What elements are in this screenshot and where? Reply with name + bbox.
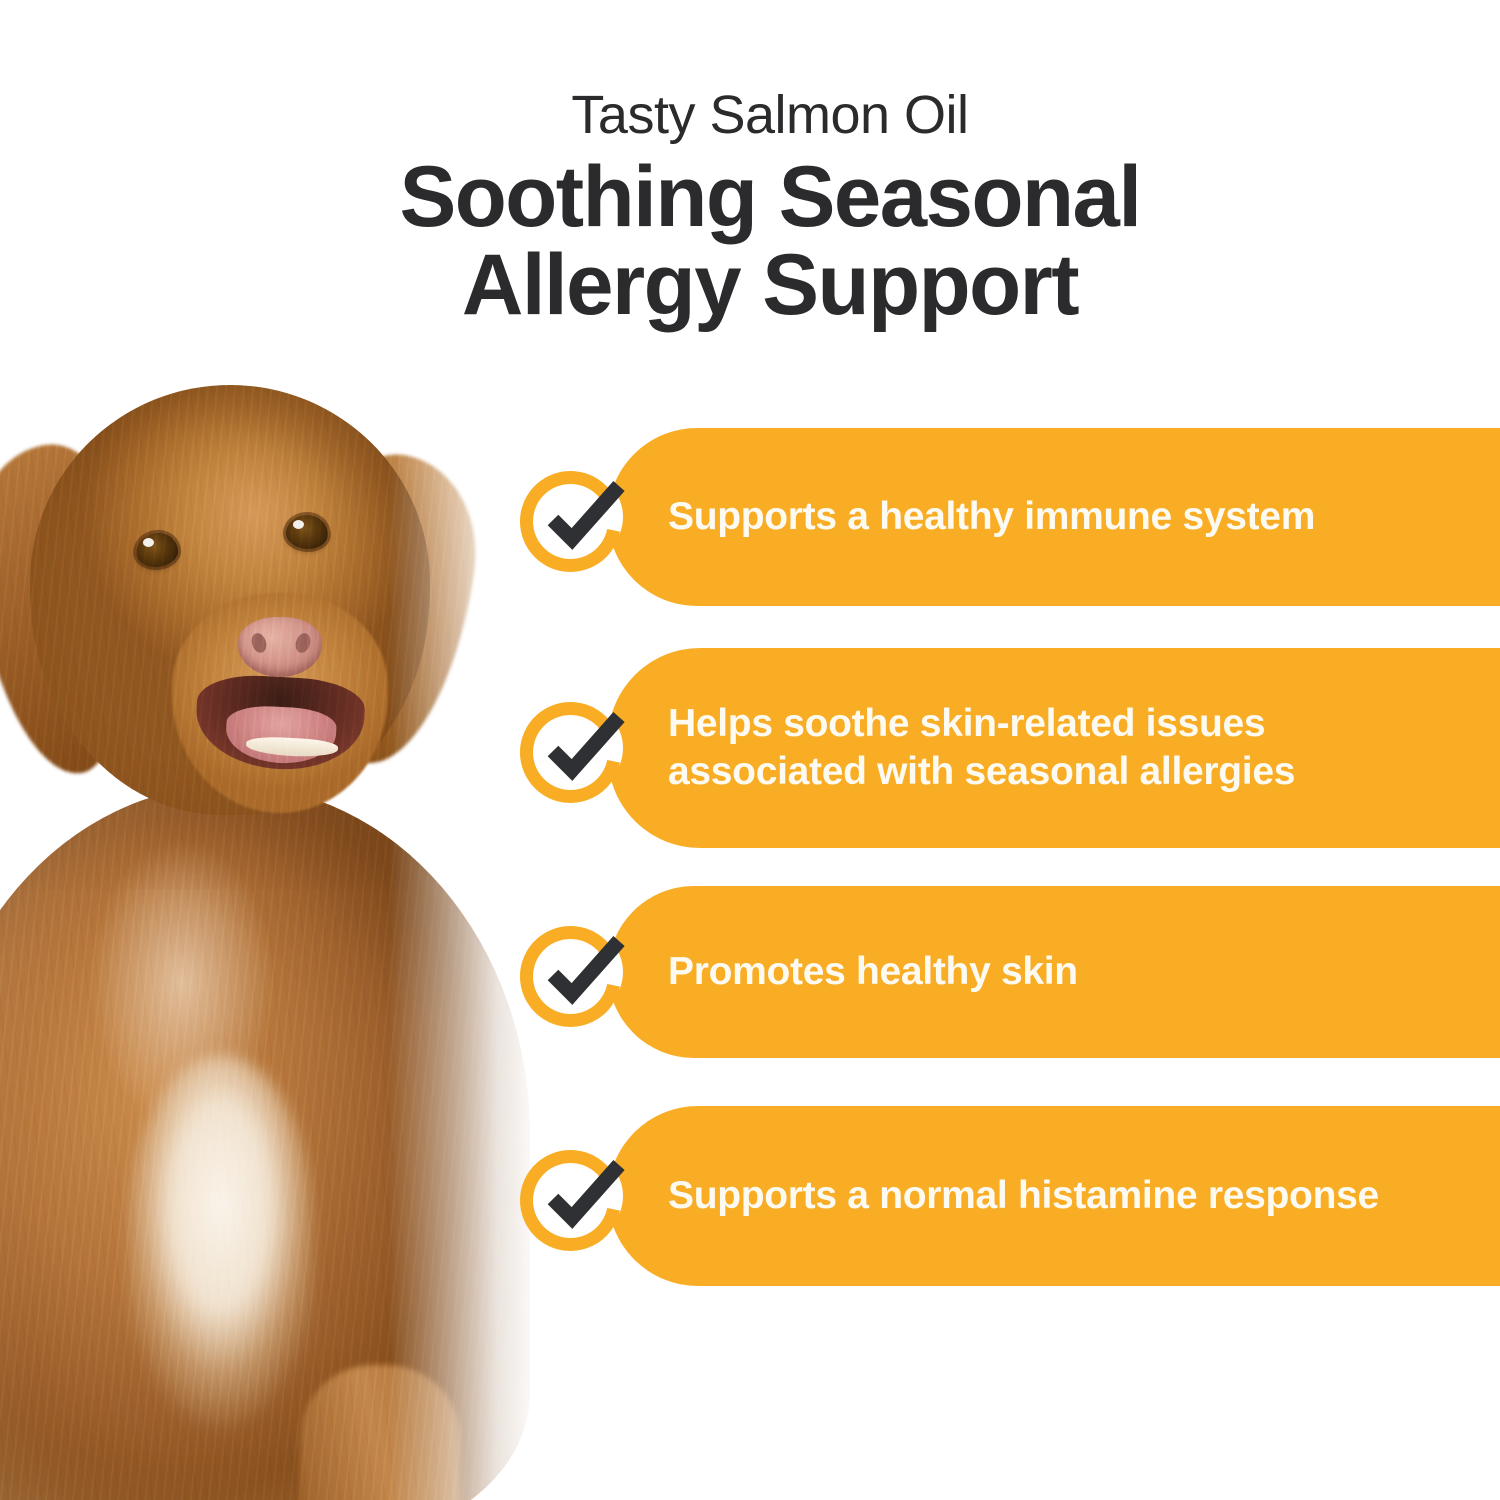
headline-line-2: Allergy Support <box>186 242 1354 330</box>
check-circle-icon <box>527 465 631 569</box>
benefit-item: Supports a healthy immune system <box>608 428 1500 606</box>
benefit-label: Promotes healthy skin <box>668 948 1078 996</box>
benefit-label: Supports a healthy immune system <box>668 493 1315 541</box>
check-circle-icon <box>527 920 631 1024</box>
benefit-label: Helps soothe skin-related issues associa… <box>668 700 1460 795</box>
check-circle-icon <box>527 1144 631 1248</box>
benefit-item: Helps soothe skin-related issues associa… <box>608 648 1500 848</box>
headline-line-1: Soothing Seasonal <box>186 154 1354 242</box>
dog-foreleg-right <box>300 1365 460 1500</box>
check-circle-icon <box>527 696 631 800</box>
hero-dog-photo <box>0 355 540 1500</box>
dog-illustration <box>0 355 540 1500</box>
benefit-item: Supports a normal histamine response <box>608 1106 1500 1286</box>
headline-block: Tasty Salmon Oil Soothing Seasonal Aller… <box>180 88 1360 329</box>
eyebrow-text: Tasty Salmon Oil <box>180 88 1360 142</box>
dog-eye-glint-right <box>293 520 304 529</box>
benefit-label: Supports a normal histamine response <box>668 1172 1379 1220</box>
dog-chest-blaze <box>128 1055 313 1475</box>
dog-eye-glint-left <box>143 538 154 547</box>
benefit-item: Promotes healthy skin <box>608 886 1500 1058</box>
page-title: Soothing Seasonal Allergy Support <box>186 154 1354 329</box>
product-benefits-graphic: Tasty Salmon Oil Soothing Seasonal Aller… <box>0 0 1500 1500</box>
